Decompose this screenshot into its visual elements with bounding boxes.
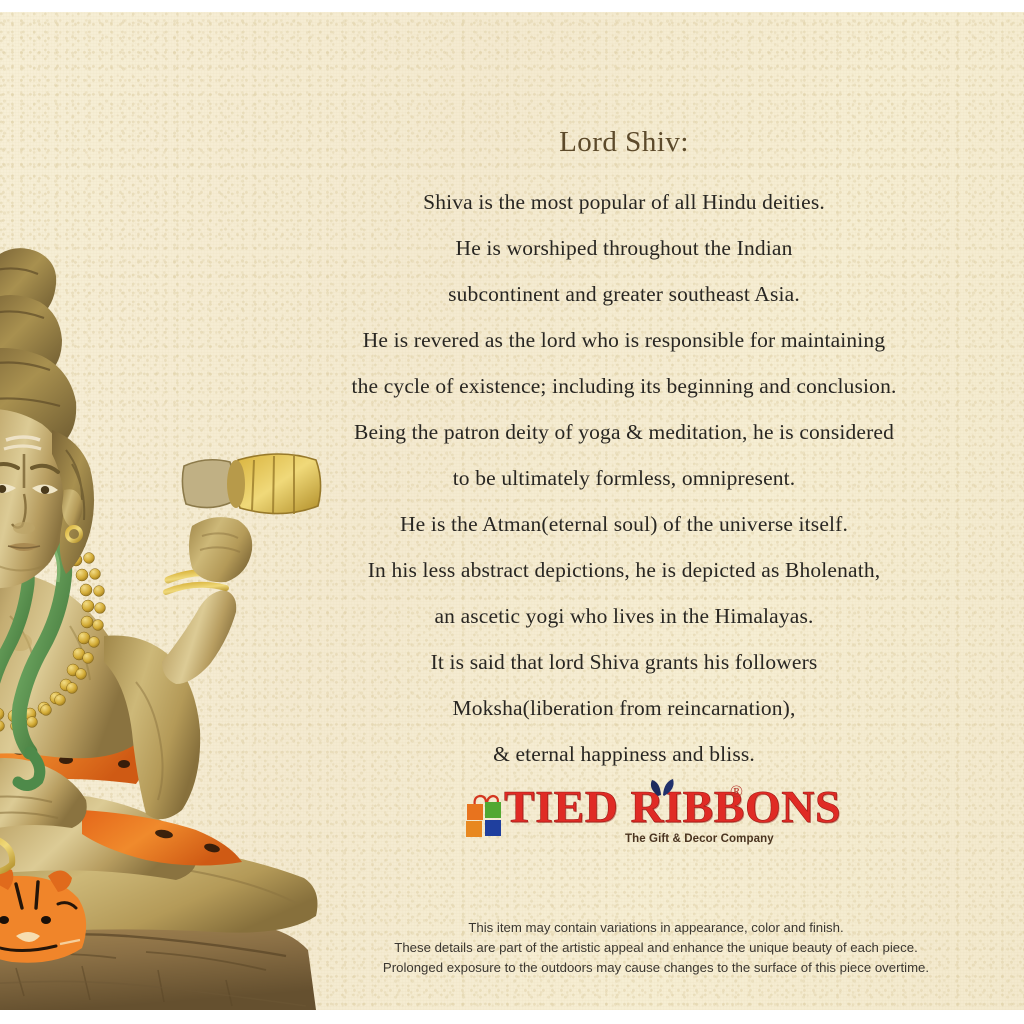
description-text-block: Lord Shiv: Shiva is the most popular of …	[236, 128, 1012, 777]
gift-square-bottom-left	[466, 821, 482, 837]
gift-square-top-left	[467, 804, 483, 820]
description-line: He is revered as the lord who is respons…	[236, 317, 1012, 363]
gift-square-bottom-right	[485, 820, 501, 836]
gift-square-top-right	[485, 802, 501, 818]
gift-box-icon	[466, 796, 506, 838]
product-image-canvas: Lord Shiv: Shiva is the most popular of …	[0, 0, 1024, 1024]
description-line: It is said that lord Shiva grants his fo…	[236, 639, 1012, 685]
description-line: & eternal happiness and bliss.	[236, 731, 1012, 777]
description-line: He is the Atman(eternal soul) of the uni…	[236, 501, 1012, 547]
description-line: Shiva is the most popular of all Hindu d…	[236, 179, 1012, 225]
brand-logo: TIED RIBBONS ® The Gift & Decor Company	[466, 780, 766, 858]
registered-trademark-icon: ®	[730, 782, 743, 802]
disclaimer-line: Prolonged exposure to the outdoors may c…	[300, 958, 1012, 978]
disclaimer-line: These details are part of the artistic a…	[300, 938, 1012, 958]
disclaimer-line: This item may contain variations in appe…	[300, 918, 1012, 938]
description-line: Moksha(liberation from reincarnation),	[236, 685, 1012, 731]
description-line: subcontinent and greater southeast Asia.	[236, 271, 1012, 317]
shiva-head	[0, 248, 94, 588]
description-line: to be ultimately formless, omnipresent.	[236, 455, 1012, 501]
description-line: In his less abstract depictions, he is d…	[236, 547, 1012, 593]
disclaimer-block: This item may contain variations in appe…	[300, 918, 1012, 978]
brand-tagline: The Gift & Decor Company	[625, 833, 774, 845]
description-line: He is worshiped throughout the Indian	[236, 225, 1012, 271]
description-line: the cycle of existence; including its be…	[236, 363, 1012, 409]
description-line: Being the patron deity of yoga & meditat…	[236, 409, 1012, 455]
ribbon-bow-icon	[642, 776, 682, 800]
description-line: an ascetic yogi who lives in the Himalay…	[236, 593, 1012, 639]
page-title: Lord Shiv:	[236, 128, 1012, 157]
